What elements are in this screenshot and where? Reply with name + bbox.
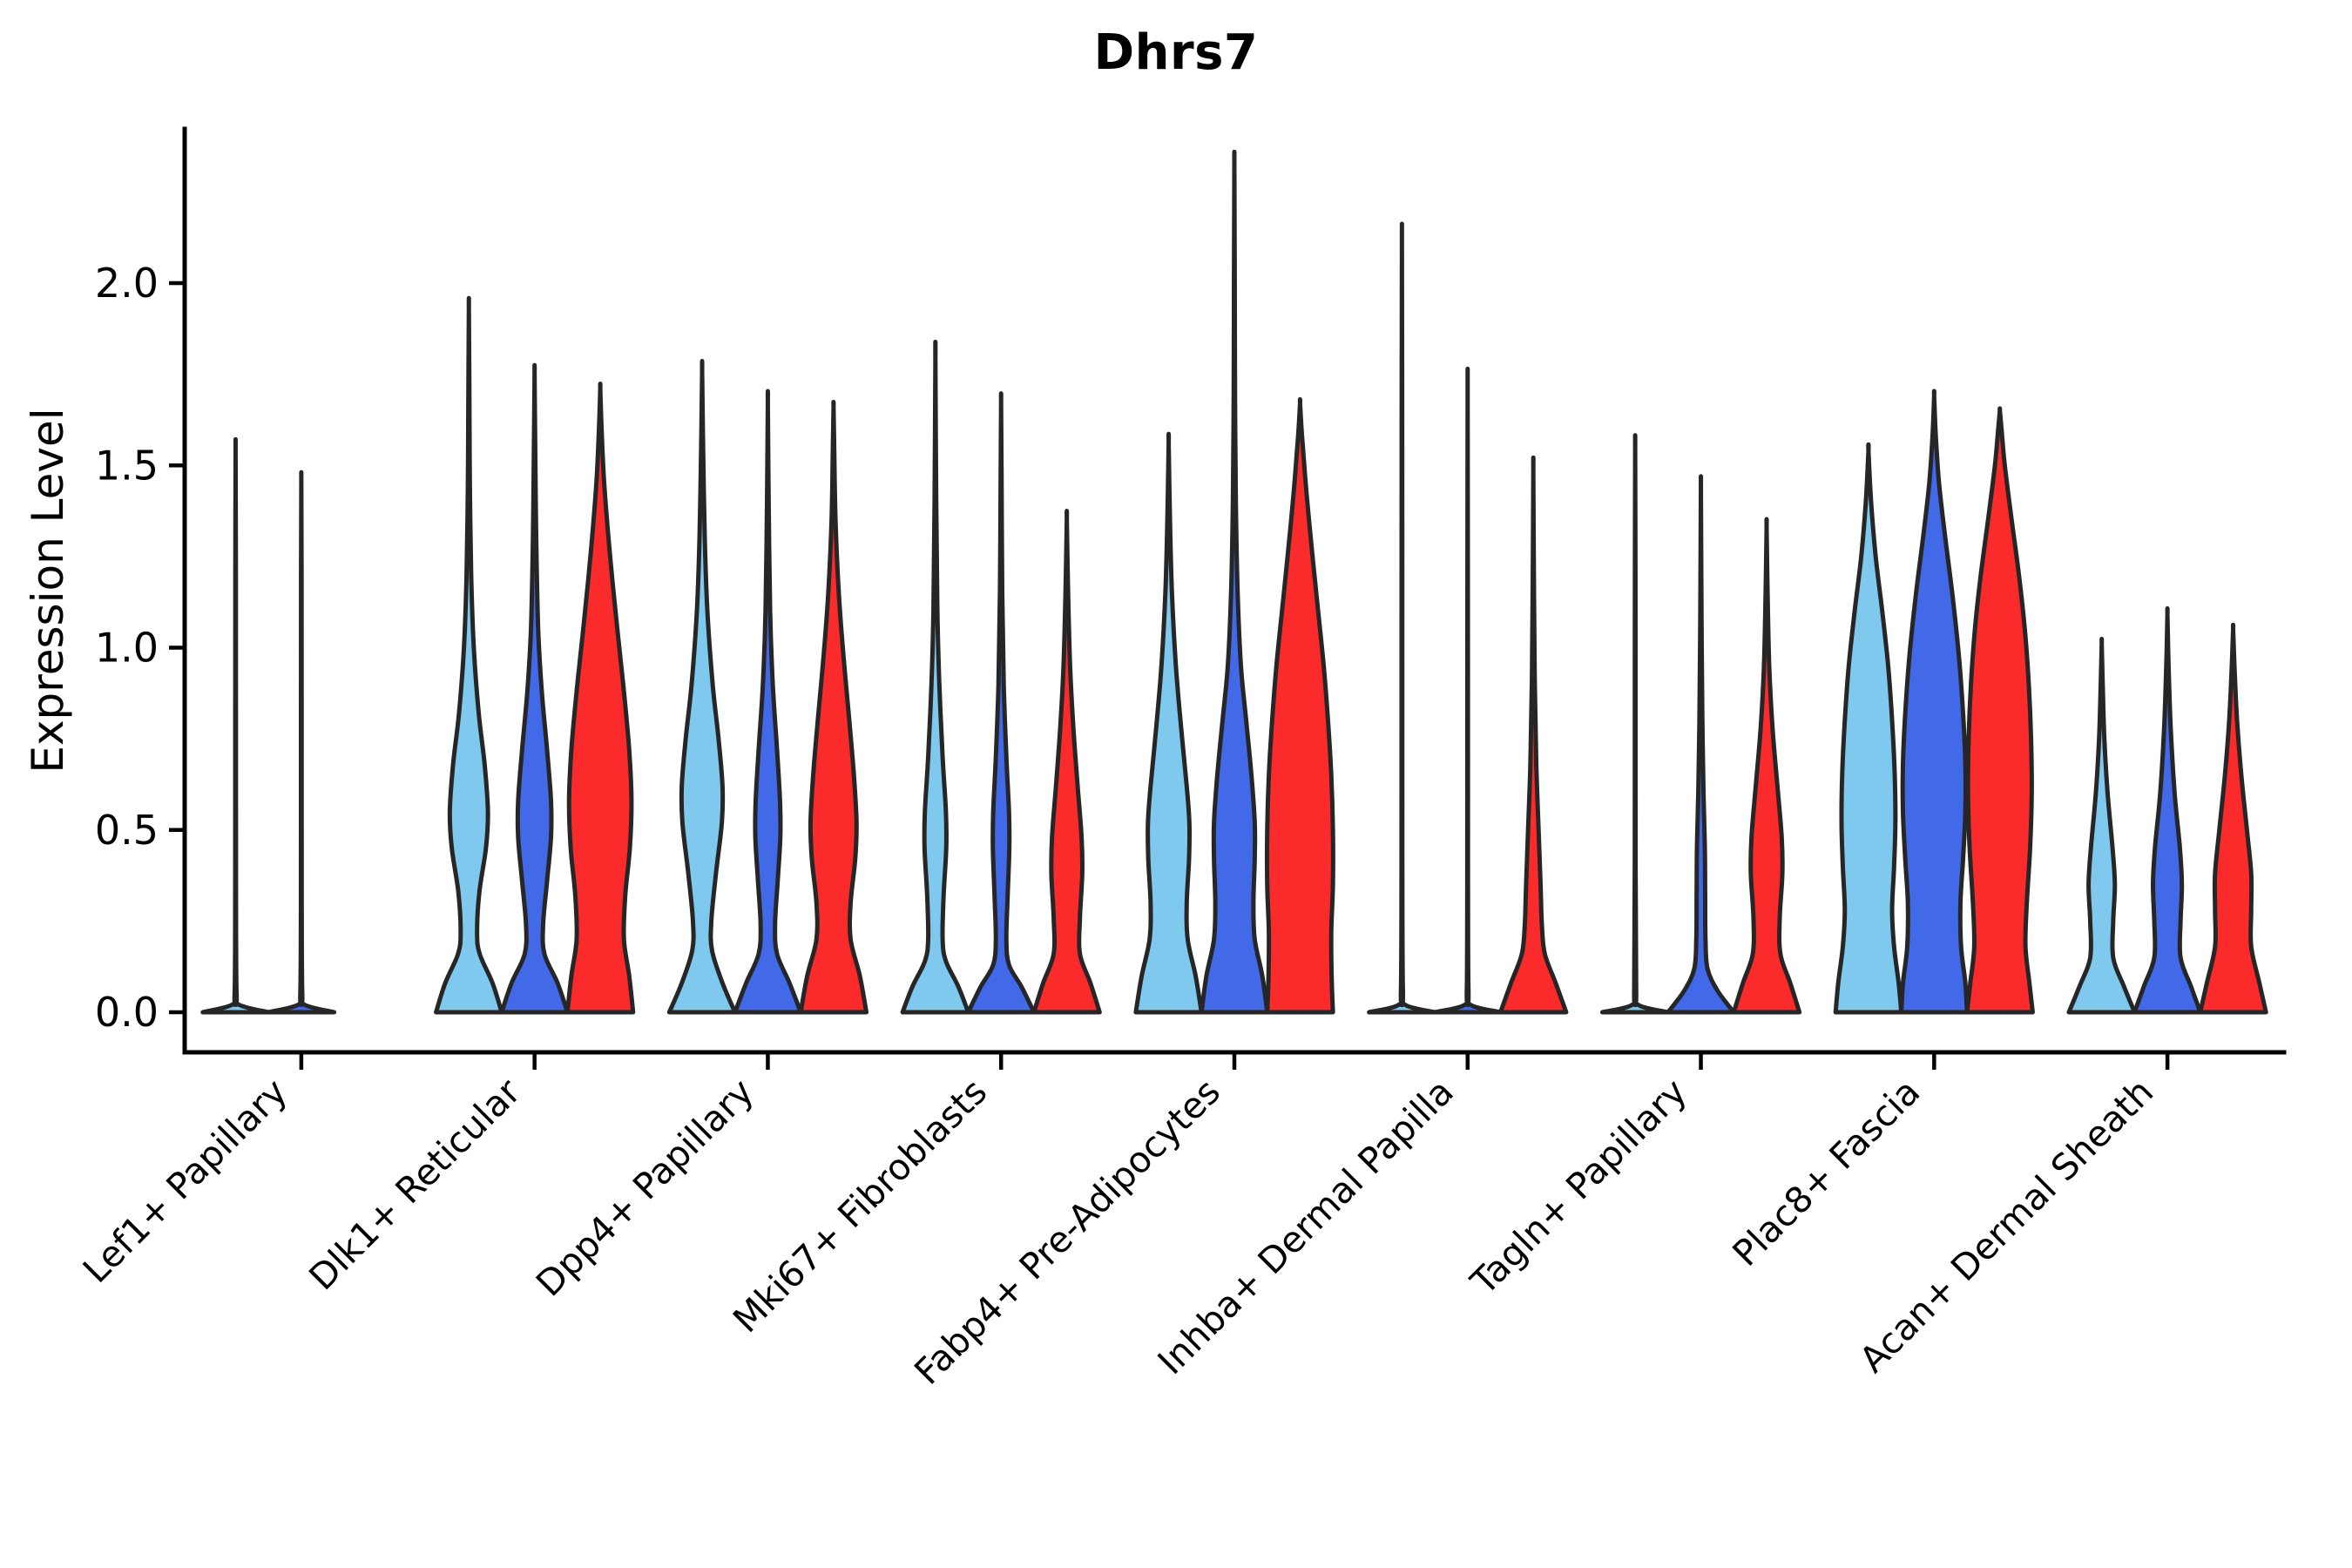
violin-light_blue-2 <box>669 361 734 1012</box>
x-tick-label-2: Dpp4+ Papillary <box>528 1071 761 1304</box>
y-tick-label-3: 1.5 <box>95 442 159 489</box>
violin-red-3 <box>1034 511 1099 1012</box>
violin-red-5 <box>1500 457 1565 1012</box>
violin-light_blue-3 <box>902 341 968 1012</box>
violin-blue-2 <box>735 391 801 1012</box>
violin-blue-1 <box>502 365 567 1012</box>
x-tick-label-6: Tagln+ Papillary <box>1463 1071 1695 1303</box>
xtick-labels-layer: Lef1+ PapillaryDlk1+ ReticularDpp4+ Papi… <box>75 1071 2161 1393</box>
violin-light_blue-4 <box>1136 434 1201 1012</box>
x-tick-label-7: Plac8+ Fascia <box>1725 1071 1929 1274</box>
yaxis-title-layer: Expression Level <box>23 408 73 773</box>
violin-red-1 <box>567 384 632 1012</box>
violin-light_blue-7 <box>1835 444 1901 1012</box>
violin-red-6 <box>1734 519 1799 1012</box>
violin-blue-0 <box>268 472 334 1012</box>
y-tick-label-4: 2.0 <box>95 260 159 307</box>
x-tick-label-0: Lef1+ Papillary <box>75 1071 295 1291</box>
violin-blue-4 <box>1201 152 1267 1012</box>
x-tick-label-1: Dlk1+ Reticular <box>301 1071 529 1298</box>
violin-blue-7 <box>1902 391 1967 1012</box>
violin-blue-6 <box>1668 476 1734 1012</box>
violin-red-2 <box>801 402 866 1012</box>
chart-canvas: 0.00.51.01.52.0 Lef1+ PapillaryDlk1+ Ret… <box>0 0 2352 1568</box>
violins-layer <box>203 152 2267 1012</box>
violin-red-7 <box>1967 409 2032 1012</box>
violin-light_blue-1 <box>436 298 502 1012</box>
violin-light_blue-5 <box>1369 224 1435 1012</box>
violin-plot-figure: Dhrs7 0.00.51.01.52.0 Lef1+ PapillaryDlk… <box>0 0 2352 1568</box>
y-tick-label-2: 1.0 <box>95 625 159 672</box>
y-axis-title: Expression Level <box>23 408 73 773</box>
violin-blue-8 <box>2134 609 2200 1012</box>
violin-blue-5 <box>1435 368 1500 1012</box>
x-tick-label-3: Mki67+ Fibroblasts <box>725 1071 995 1341</box>
violin-red-8 <box>2200 625 2266 1012</box>
violin-red-4 <box>1267 399 1333 1012</box>
y-tick-label-1: 0.5 <box>95 807 159 854</box>
violin-light_blue-8 <box>2069 639 2134 1012</box>
violin-blue-3 <box>969 394 1034 1012</box>
y-tick-label-0: 0.0 <box>95 989 159 1036</box>
violin-light_blue-6 <box>1602 436 1667 1012</box>
violin-light_blue-0 <box>203 439 268 1012</box>
